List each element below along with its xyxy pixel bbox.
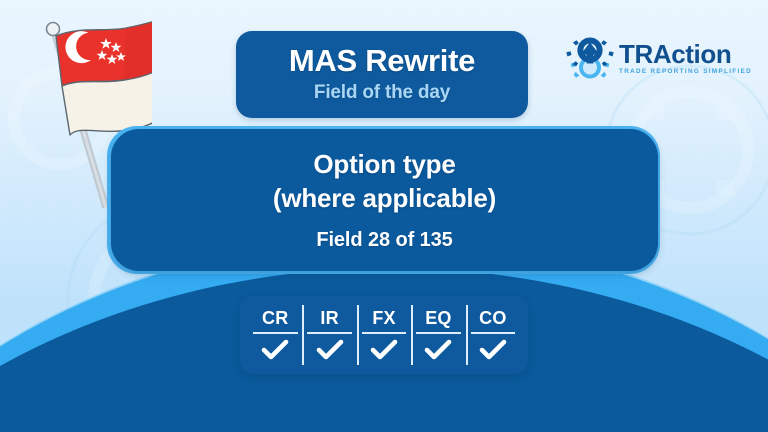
asset-class-code: EQ [425,309,451,332]
logo-tagline: TRADE REPORTING SIMPLIFIED [619,69,752,75]
slide-canvas: TRAction TRADE REPORTING SIMPLIFIED MAS … [0,0,768,432]
check-icon [424,334,452,361]
check-icon [479,334,507,361]
title-card: MAS Rewrite Field of the day [236,31,528,118]
traction-logo[interactable]: TRAction TRADE REPORTING SIMPLIFIED [566,34,752,82]
check-icon [370,334,398,361]
asset-class-fx: FX [357,302,411,368]
logo-word-action: Action [653,39,731,69]
field-name-line-1: Option type [273,148,496,182]
check-icon [316,334,344,361]
logo-wordmark: TRAction [619,41,752,67]
asset-class-badge-bar: CR IR FX EQ [240,296,528,374]
field-name-line-2: (where applicable) [273,182,496,216]
page-title: MAS Rewrite [289,45,475,78]
asset-class-eq: EQ [411,302,465,368]
page-subtitle: Field of the day [314,82,450,104]
logo-word-tr: TR [619,39,653,69]
asset-class-ir: IR [302,302,356,368]
gear-arrow-up-icon [566,36,614,80]
asset-class-co: CO [466,302,520,368]
field-card: Option type (where applicable) Field 28 … [111,129,658,271]
field-position: Field 28 of 135 [316,229,452,252]
asset-class-cr: CR [248,302,302,368]
check-icon [261,334,289,361]
field-name: Option type (where applicable) [273,148,496,216]
asset-class-code: FX [372,309,395,332]
asset-class-code: CO [479,309,506,332]
asset-class-code: CR [262,309,288,332]
asset-class-code: IR [320,309,338,332]
